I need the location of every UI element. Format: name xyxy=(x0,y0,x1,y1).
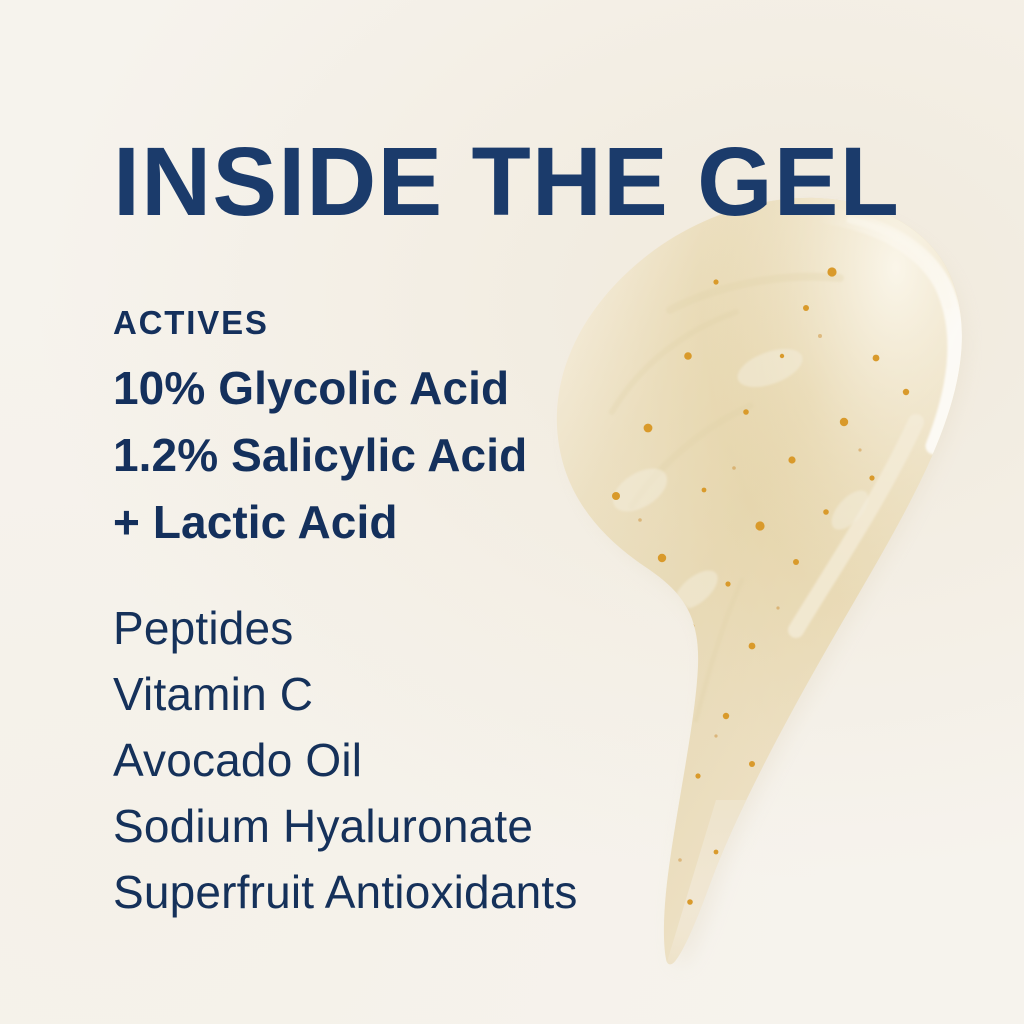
swatch-rim-highlight xyxy=(766,212,956,446)
ingredients-list-item: Peptides xyxy=(113,595,578,661)
swatch-body xyxy=(520,160,990,990)
infographic-page: INSIDE THE GEL ACTIVES 10% Glycolic Acid… xyxy=(0,0,1024,1024)
ingredients-list-item: Vitamin C xyxy=(113,661,578,727)
actives-list-item: 10% Glycolic Acid xyxy=(113,355,527,422)
ingredients-list-item: Superfruit Antioxidants xyxy=(113,859,578,925)
actives-list: 10% Glycolic Acid 1.2% Salicylic Acid + … xyxy=(113,355,527,556)
gel-speckles xyxy=(581,267,910,904)
gel-swatch xyxy=(520,160,990,990)
gel-speckles-soft xyxy=(638,334,861,862)
actives-list-item: + Lactic Acid xyxy=(113,489,527,556)
ingredients-list-item: Avocado Oil xyxy=(113,727,578,793)
page-title: INSIDE THE GEL xyxy=(113,133,943,230)
ingredients-list: Peptides Vitamin C Avocado Oil Sodium Hy… xyxy=(113,595,578,925)
ingredients-list-item: Sodium Hyaluronate xyxy=(113,793,578,859)
actives-heading: ACTIVES xyxy=(113,303,269,343)
actives-list-item: 1.2% Salicylic Acid xyxy=(113,422,527,489)
swatch-shadow xyxy=(571,214,964,967)
